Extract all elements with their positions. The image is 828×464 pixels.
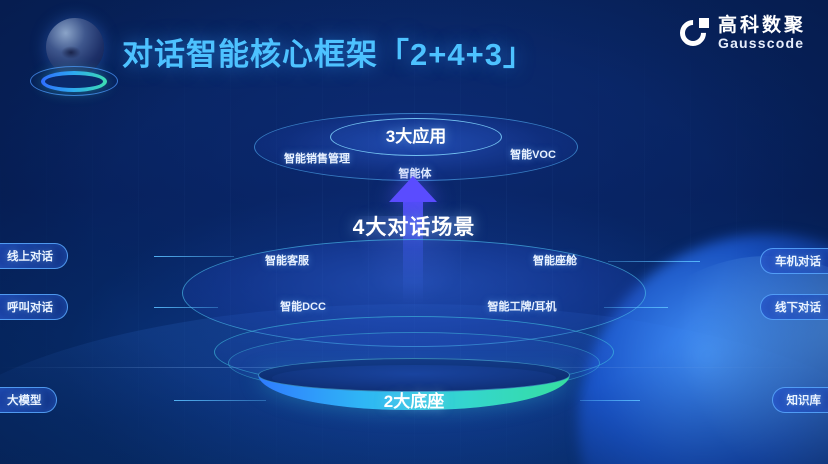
scenario-node-cockpit-label: 智能座舱 <box>533 255 577 267</box>
tag-offline-chat[interactable]: 线下对话 <box>760 294 828 320</box>
tag-call-chat[interactable]: 呼叫对话 <box>0 294 68 320</box>
connector-line-offline-chat <box>604 307 668 308</box>
connector-line-invehicle-chat <box>608 261 700 262</box>
connector-line-knowledge-base <box>580 400 640 401</box>
scenario-node-customer-service: 智能客服 <box>232 251 342 269</box>
tag-large-model[interactable]: 大模型 <box>0 387 57 413</box>
application-node-sales-label: 智能销售管理 <box>284 153 350 165</box>
tag-knowledge-base[interactable]: 知识库 <box>772 387 828 413</box>
connector-line-large-model <box>174 400 266 401</box>
connector-line-call-chat <box>154 307 218 308</box>
application-node-voc: 智能VOC <box>478 145 588 163</box>
tag-invehicle-chat[interactable]: 车机对话 <box>760 248 828 274</box>
framework-diagram: 3大应用 智能销售管理 智能VOC 智能体 4大对话场景 智能客服 智能座舱 智… <box>0 0 828 464</box>
scenario-node-customer-service-label: 智能客服 <box>265 255 309 267</box>
foundation-title: 2大底座 <box>334 387 494 412</box>
scenario-node-dcc-label: 智能DCC <box>280 301 326 313</box>
scenario-node-badge-headset-label: 智能工牌/耳机 <box>487 301 556 313</box>
application-node-sales: 智能销售管理 <box>262 149 372 167</box>
connector-line-online-chat <box>154 256 234 257</box>
tag-online-chat[interactable]: 线上对话 <box>0 243 68 269</box>
scenario-node-badge-headset: 智能工牌/耳机 <box>452 297 592 315</box>
applications-title: 3大应用 <box>330 122 502 147</box>
scenario-node-cockpit: 智能座舱 <box>500 251 610 269</box>
scenario-node-dcc: 智能DCC <box>248 297 358 315</box>
scenarios-title: 4大对话场景 <box>314 211 514 241</box>
application-node-voc-label: 智能VOC <box>510 149 556 161</box>
